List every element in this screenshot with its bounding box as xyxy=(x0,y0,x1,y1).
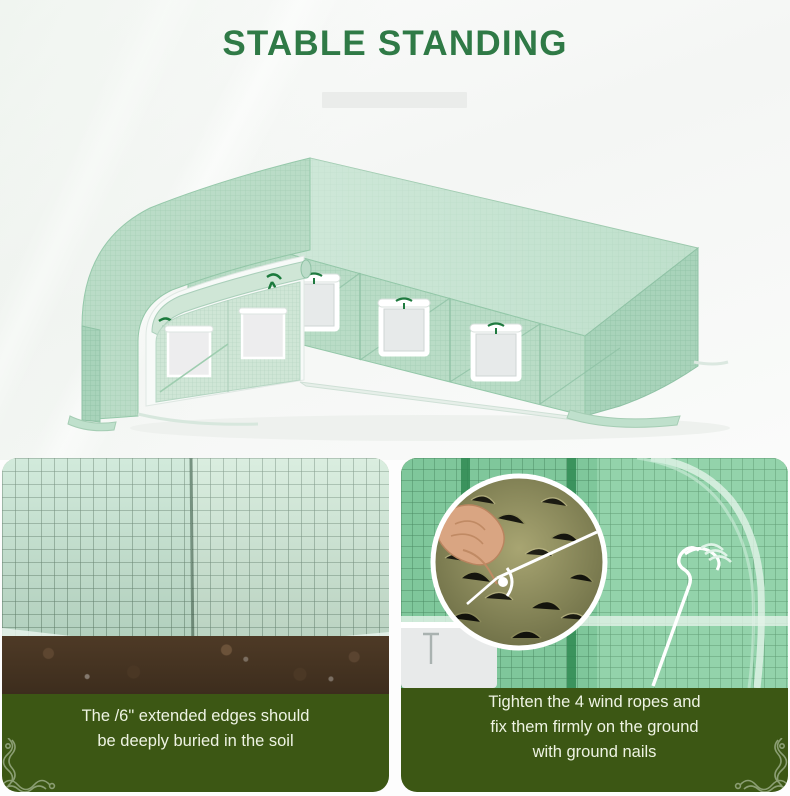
hero-section: STABLE STANDING xyxy=(0,0,790,460)
instruction-card-wind-ropes: Tighten the 4 wind ropes and fix them fi… xyxy=(401,458,788,792)
caption-line: The /6" extended edges should xyxy=(2,704,389,729)
filigree-flourish-icon xyxy=(2,738,72,792)
greenhouse-illustration xyxy=(60,130,740,450)
caption-line: fix them firmly on the ground xyxy=(401,715,788,740)
photo-extended-edges xyxy=(2,458,389,694)
product-infographic-page: STABLE STANDING xyxy=(0,0,790,796)
door-window-right xyxy=(239,308,287,358)
side-window-3 xyxy=(470,324,522,381)
instruction-cards: The /6" extended edges should be deeply … xyxy=(0,458,790,796)
filigree-flourish-icon xyxy=(718,738,788,792)
wind-rope-photo xyxy=(401,458,788,688)
soil-strip xyxy=(2,636,389,694)
title-underline-bar xyxy=(322,92,467,108)
photo-wind-ropes xyxy=(401,458,788,688)
side-window-2 xyxy=(378,299,430,356)
caption-line: Tighten the 4 wind ropes and xyxy=(401,690,788,715)
door-window-left xyxy=(165,326,213,376)
inset-circle-photo xyxy=(433,476,605,648)
page-title: STABLE STANDING xyxy=(0,24,790,64)
instruction-card-extended-edges: The /6" extended edges should be deeply … xyxy=(2,458,389,792)
